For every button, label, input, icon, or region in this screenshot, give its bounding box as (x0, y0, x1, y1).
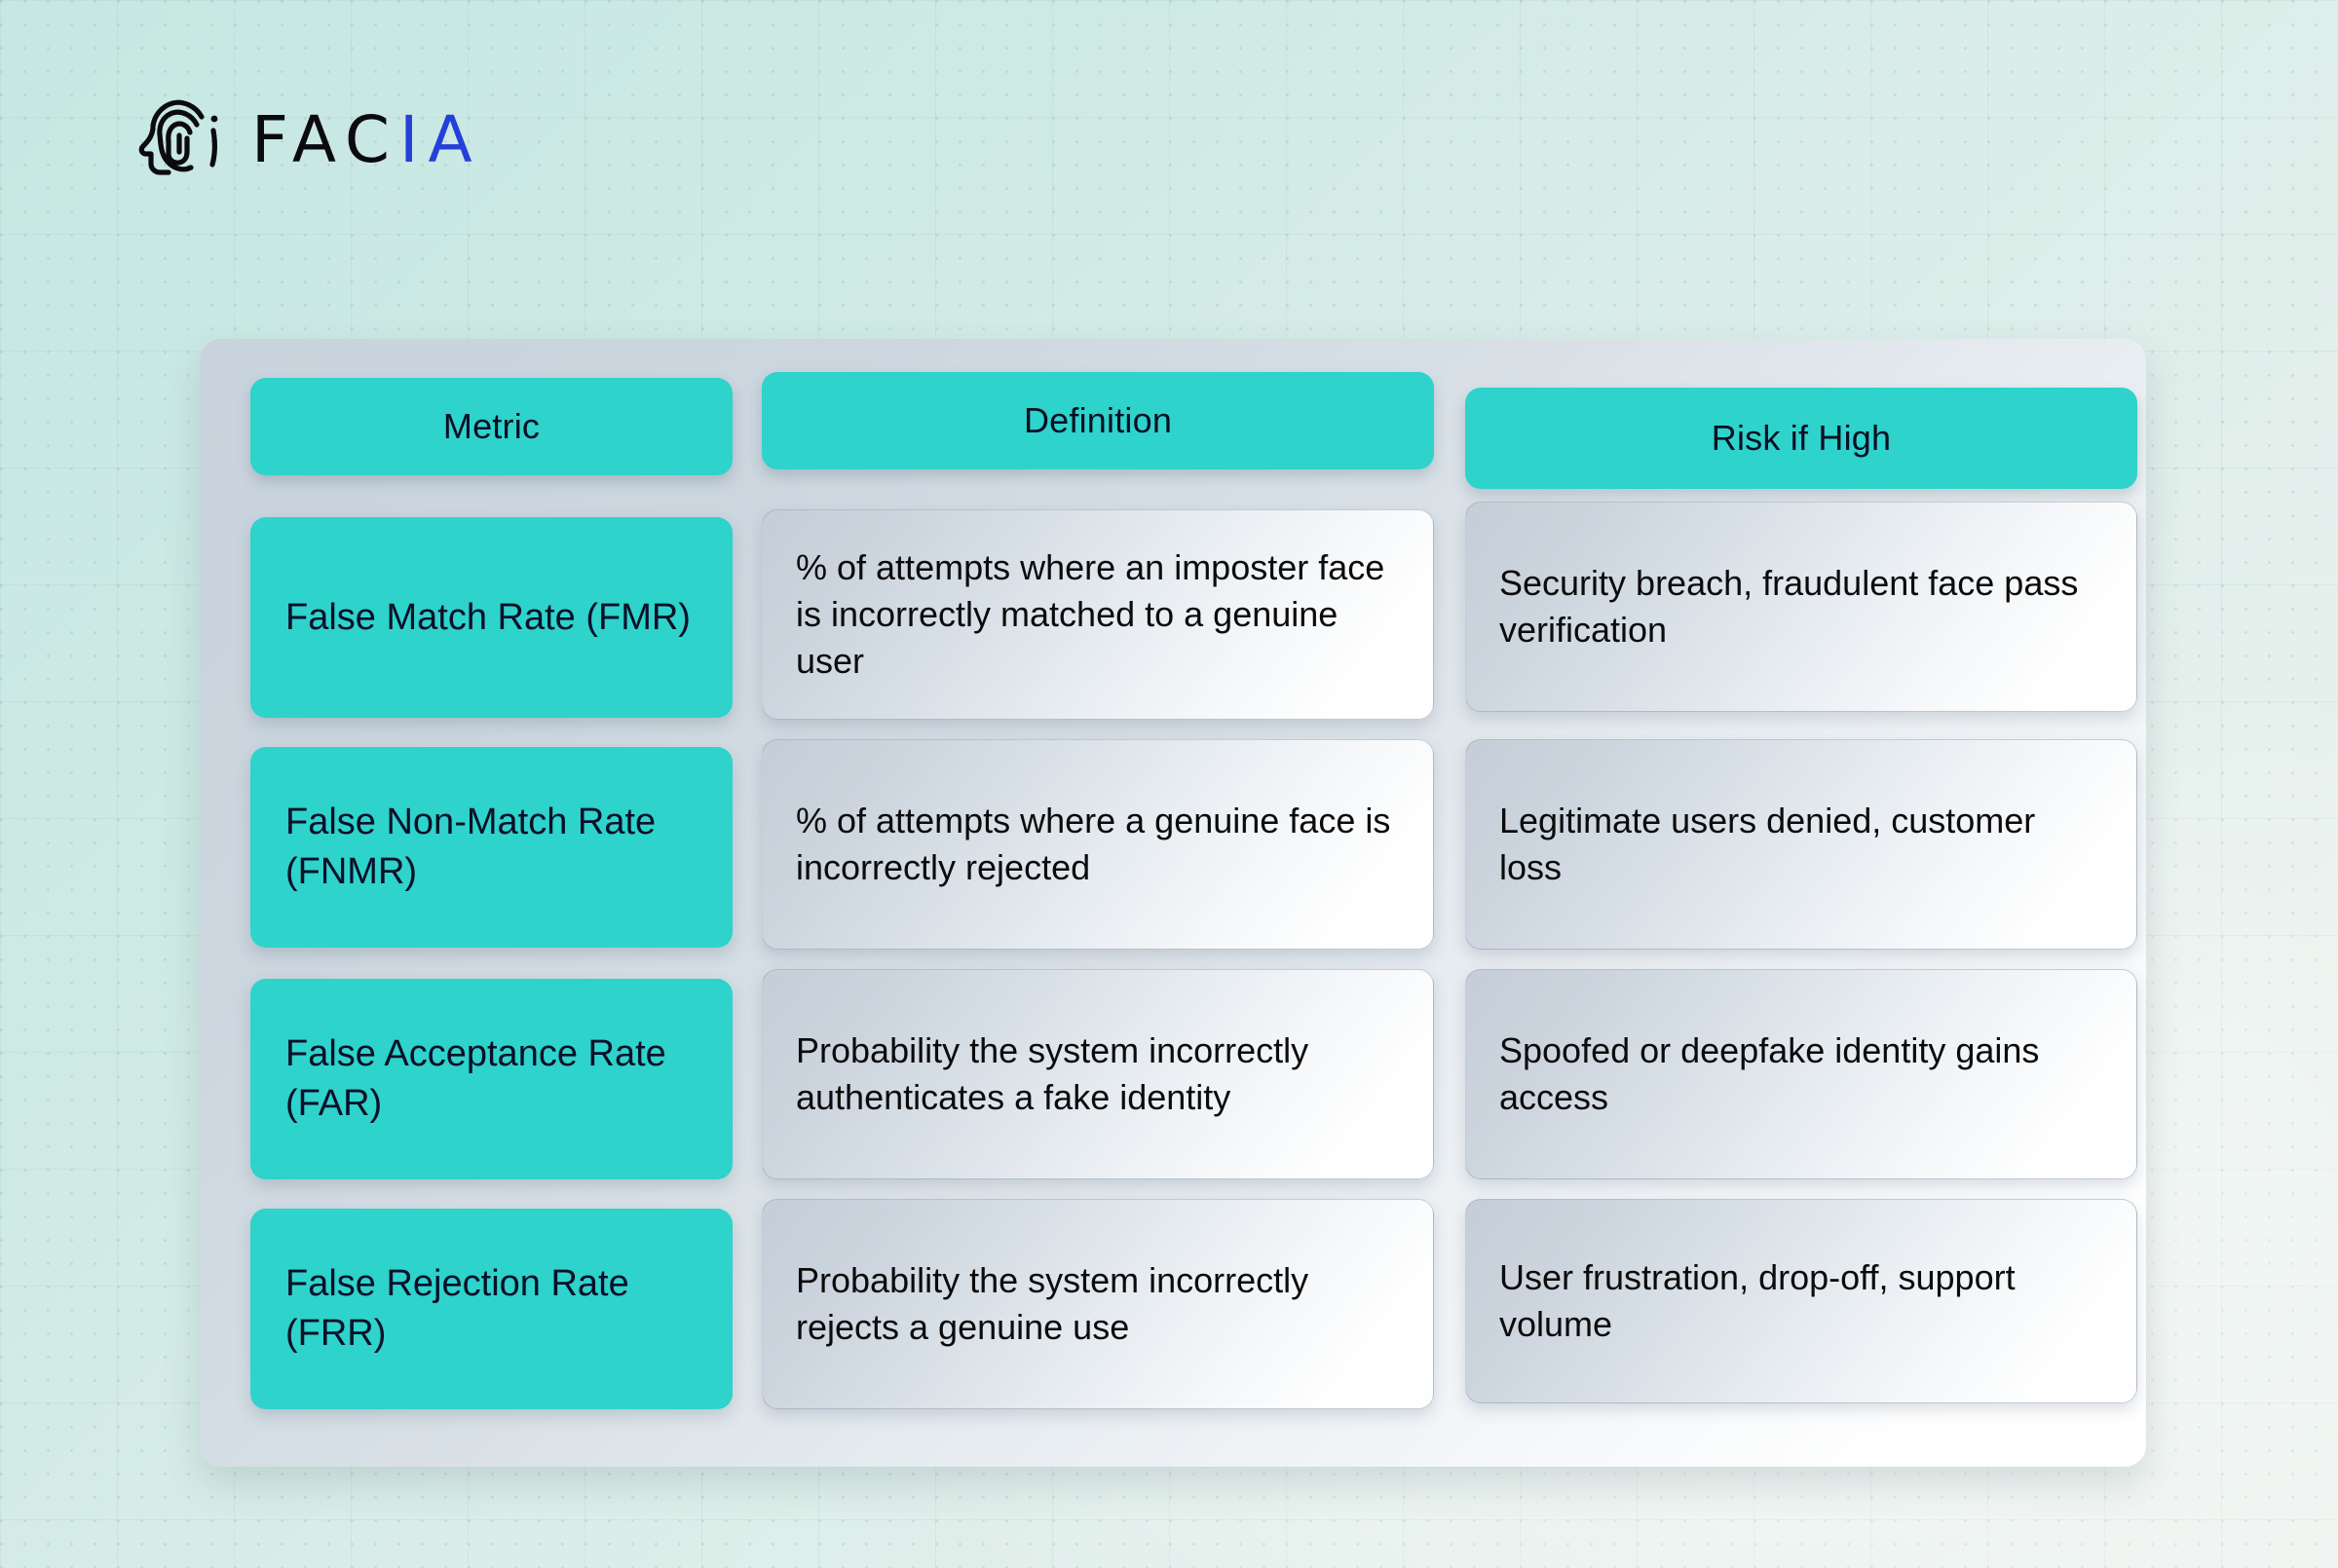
column-gap (1434, 950, 1465, 1179)
table-row: Security breach, fraudulent face pass ve… (1465, 502, 2137, 712)
column-gap (1434, 1179, 1465, 1409)
logo-word-dark: FAC (251, 102, 399, 177)
table-row: User frustration, drop-off, support volu… (1465, 1199, 2137, 1403)
fingerprint-face-icon (136, 95, 230, 185)
logo-wordmark: FACIA (251, 108, 482, 172)
column-gap (733, 950, 762, 1179)
column-gap (1434, 720, 1465, 950)
table-row: Probability the system incorrectly authe… (762, 969, 1434, 1179)
table-row: False Non-Match Rate (FNMR) (250, 747, 733, 948)
column-gap (1434, 364, 1465, 489)
table-row: False Rejection Rate (FRR) (250, 1209, 733, 1409)
column-header-definition: Definition (762, 372, 1434, 469)
table-row: Probability the system incorrectly rejec… (762, 1199, 1434, 1409)
facia-logo: FACIA (136, 95, 482, 185)
table-row: False Match Rate (FMR) (250, 517, 733, 718)
metrics-table-card: Metric Definition Risk if High False Mat… (200, 339, 2146, 1467)
column-gap (1434, 489, 1465, 720)
table-row: % of attempts where an imposter face is … (762, 509, 1434, 720)
column-header-risk: Risk if High (1465, 388, 2137, 489)
column-gap (733, 1179, 762, 1409)
column-header-metric: Metric (250, 378, 733, 475)
table-row: False Acceptance Rate (FAR) (250, 979, 733, 1179)
column-gap (733, 489, 762, 720)
column-gap (733, 720, 762, 950)
table-row: Legitimate users denied, customer loss (1465, 739, 2137, 950)
metrics-table-grid: Metric Definition Risk if High False Mat… (250, 364, 2109, 1409)
logo-word-accent: IA (399, 102, 482, 177)
table-row: % of attempts where a genuine face is in… (762, 739, 1434, 950)
column-gap (733, 364, 762, 489)
table-row: Spoofed or deepfake identity gains acces… (1465, 969, 2137, 1179)
